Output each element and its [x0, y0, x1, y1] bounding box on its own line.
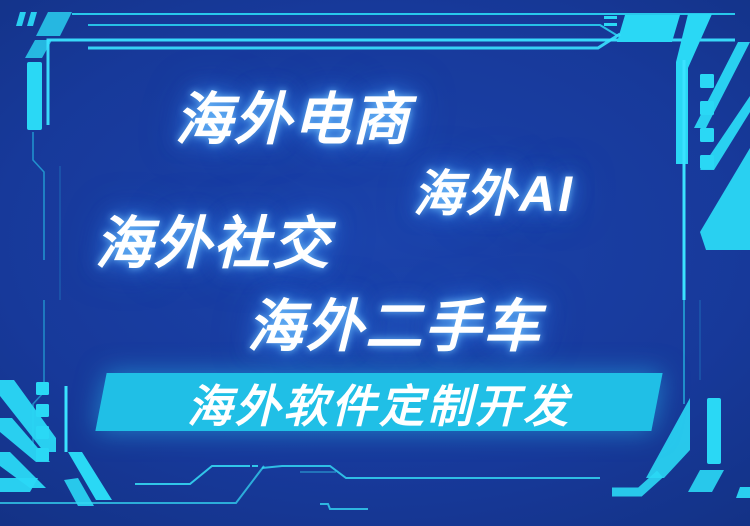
custom-software-banner: 海外软件定制开发 — [95, 373, 662, 431]
headline-overseas-ai: 海外AI — [413, 154, 575, 226]
banner-label: 海外软件定制开发 — [101, 373, 657, 431]
headline-overseas-used-car: 海外二手车 — [247, 281, 542, 363]
headline-overseas-social: 海外社交 — [95, 198, 331, 280]
headline-overseas-ecommerce: 海外电商 — [175, 74, 411, 156]
poster-canvas: 海外电商 海外AI 海外社交 海外二手车 海外软件定制开发 — [0, 0, 750, 526]
headline-stack: 海外电商 海外AI 海外社交 海外二手车 — [0, 0, 750, 526]
